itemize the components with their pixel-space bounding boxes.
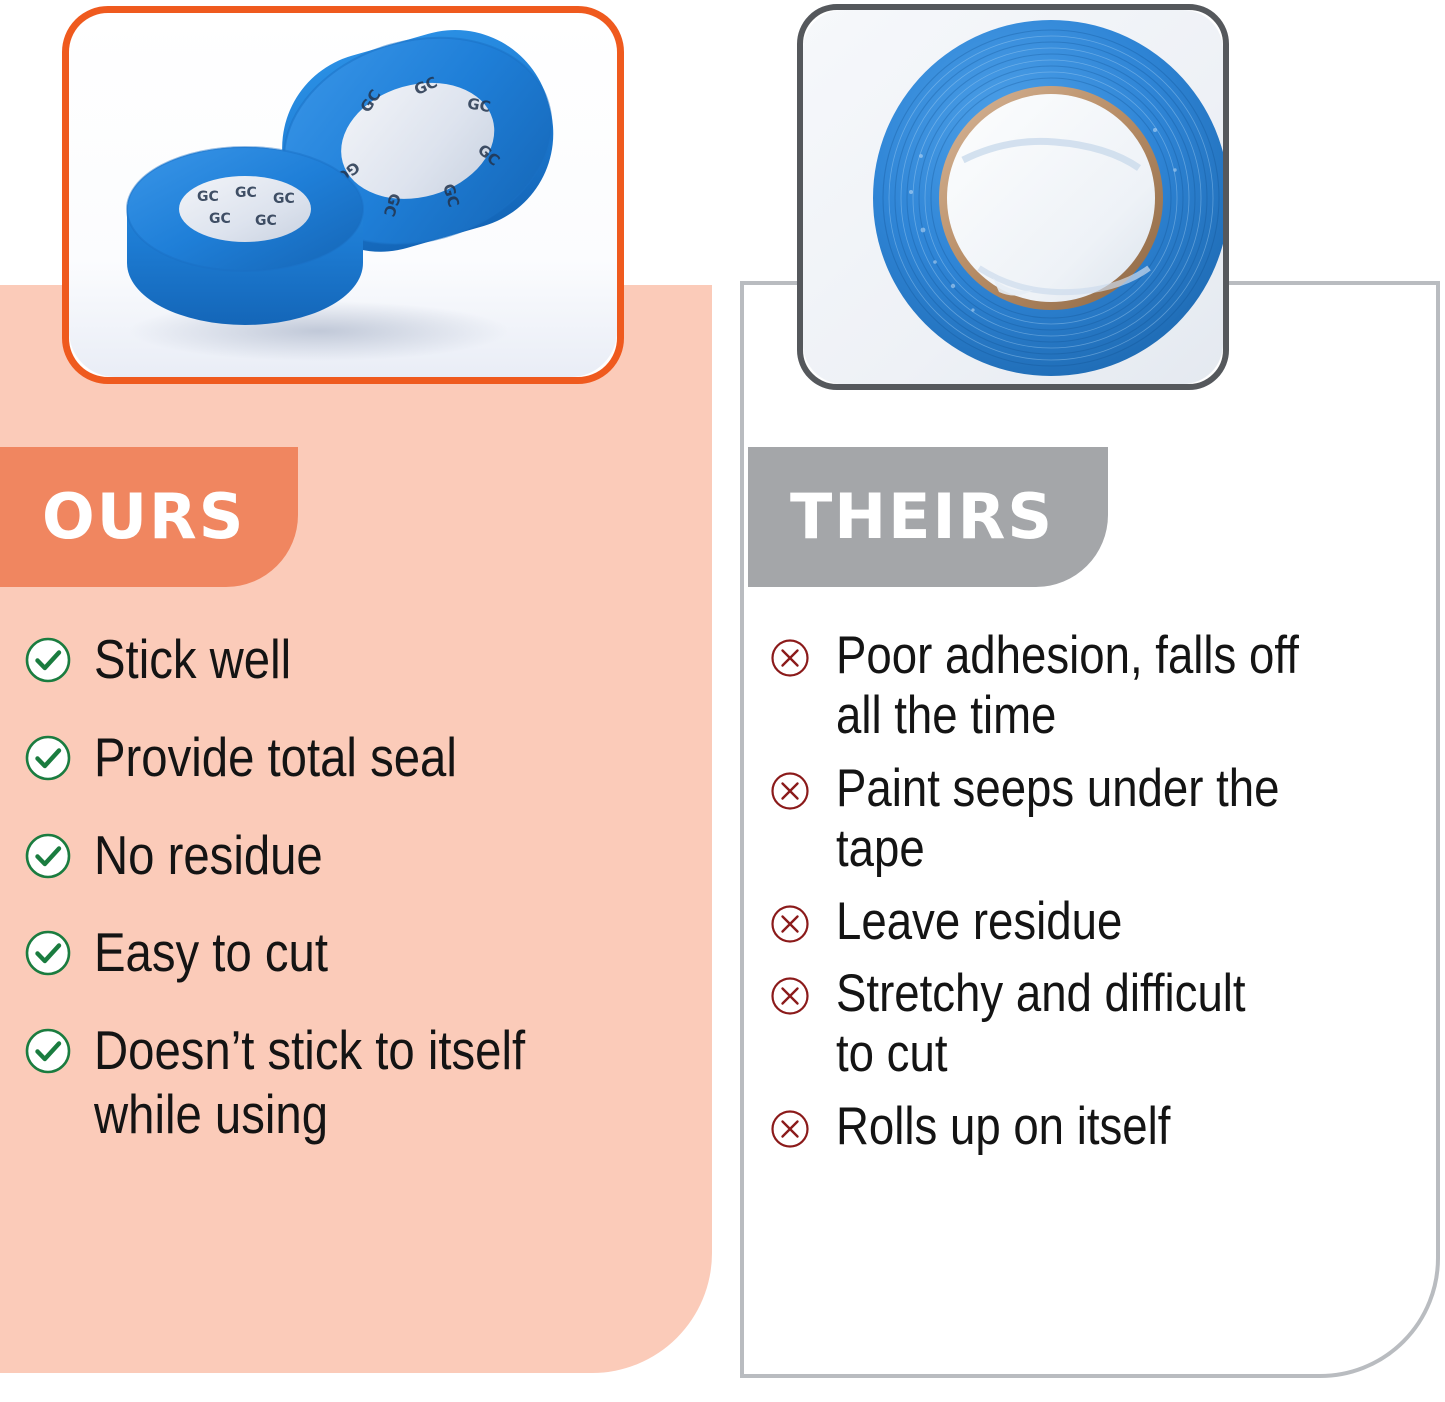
list-item: Doesn’t stick to itself while using	[24, 1019, 684, 1147]
x-circle-icon	[770, 976, 810, 1016]
theirs-feature-list: Poor adhesion, falls off all the time Pa…	[770, 626, 1430, 1169]
list-item-label: Provide total seal	[94, 726, 457, 790]
list-item-label: Rolls up on itself	[836, 1097, 1170, 1157]
list-item: Poor adhesion, falls off all the time	[770, 626, 1430, 747]
blue-tape-worn-roll-illustration	[803, 10, 1223, 384]
list-item-label: Poor adhesion, falls off all the time	[836, 626, 1299, 747]
ours-product-photo: GC GC GC GC GC GC GC G	[62, 6, 624, 384]
blue-tape-two-rolls-illustration: GC GC GC GC GC GC GC G	[69, 13, 617, 377]
svg-text:GC: GC	[255, 213, 277, 229]
list-item-label: Leave residue	[836, 892, 1122, 952]
check-circle-icon	[24, 636, 72, 684]
list-item: Easy to cut	[24, 921, 684, 985]
list-item-label: Stretchy and difficult to cut	[836, 964, 1246, 1085]
ours-banner-label: OURS	[42, 486, 245, 548]
svg-text:GC: GC	[273, 191, 295, 207]
svg-text:GC: GC	[197, 189, 219, 205]
ours-feature-list: Stick well Provide total seal No residue…	[24, 628, 684, 1181]
check-circle-icon	[24, 832, 72, 880]
theirs-product-photo-image	[803, 10, 1223, 384]
list-item-label: Easy to cut	[94, 921, 328, 985]
check-circle-icon	[24, 734, 72, 782]
list-item-label: Doesn’t stick to itself while using	[94, 1019, 525, 1147]
theirs-banner: THEIRS	[748, 447, 1108, 587]
check-circle-icon	[24, 929, 72, 977]
x-circle-icon	[770, 1109, 810, 1149]
svg-text:GC: GC	[235, 185, 257, 201]
x-circle-icon	[770, 904, 810, 944]
check-circle-icon	[24, 1027, 72, 1075]
ours-product-photo-image: GC GC GC GC GC GC GC G	[69, 13, 617, 377]
list-item-label: Paint seeps under the tape	[836, 759, 1279, 880]
x-circle-icon	[770, 638, 810, 678]
x-circle-icon	[770, 771, 810, 811]
theirs-banner-label: THEIRS	[790, 486, 1054, 548]
comparison-infographic: GC GC GC GC GC GC GC G	[0, 0, 1445, 1402]
list-item: Provide total seal	[24, 726, 684, 790]
svg-text:GC: GC	[209, 211, 231, 227]
list-item: Stick well	[24, 628, 684, 692]
list-item: Paint seeps under the tape	[770, 759, 1430, 880]
list-item-label: No residue	[94, 824, 323, 888]
list-item: Stretchy and difficult to cut	[770, 964, 1430, 1085]
theirs-product-photo	[797, 4, 1229, 390]
ours-banner: OURS	[0, 447, 298, 587]
list-item-label: Stick well	[94, 628, 291, 692]
list-item: No residue	[24, 824, 684, 888]
list-item: Rolls up on itself	[770, 1097, 1430, 1157]
list-item: Leave residue	[770, 892, 1430, 952]
